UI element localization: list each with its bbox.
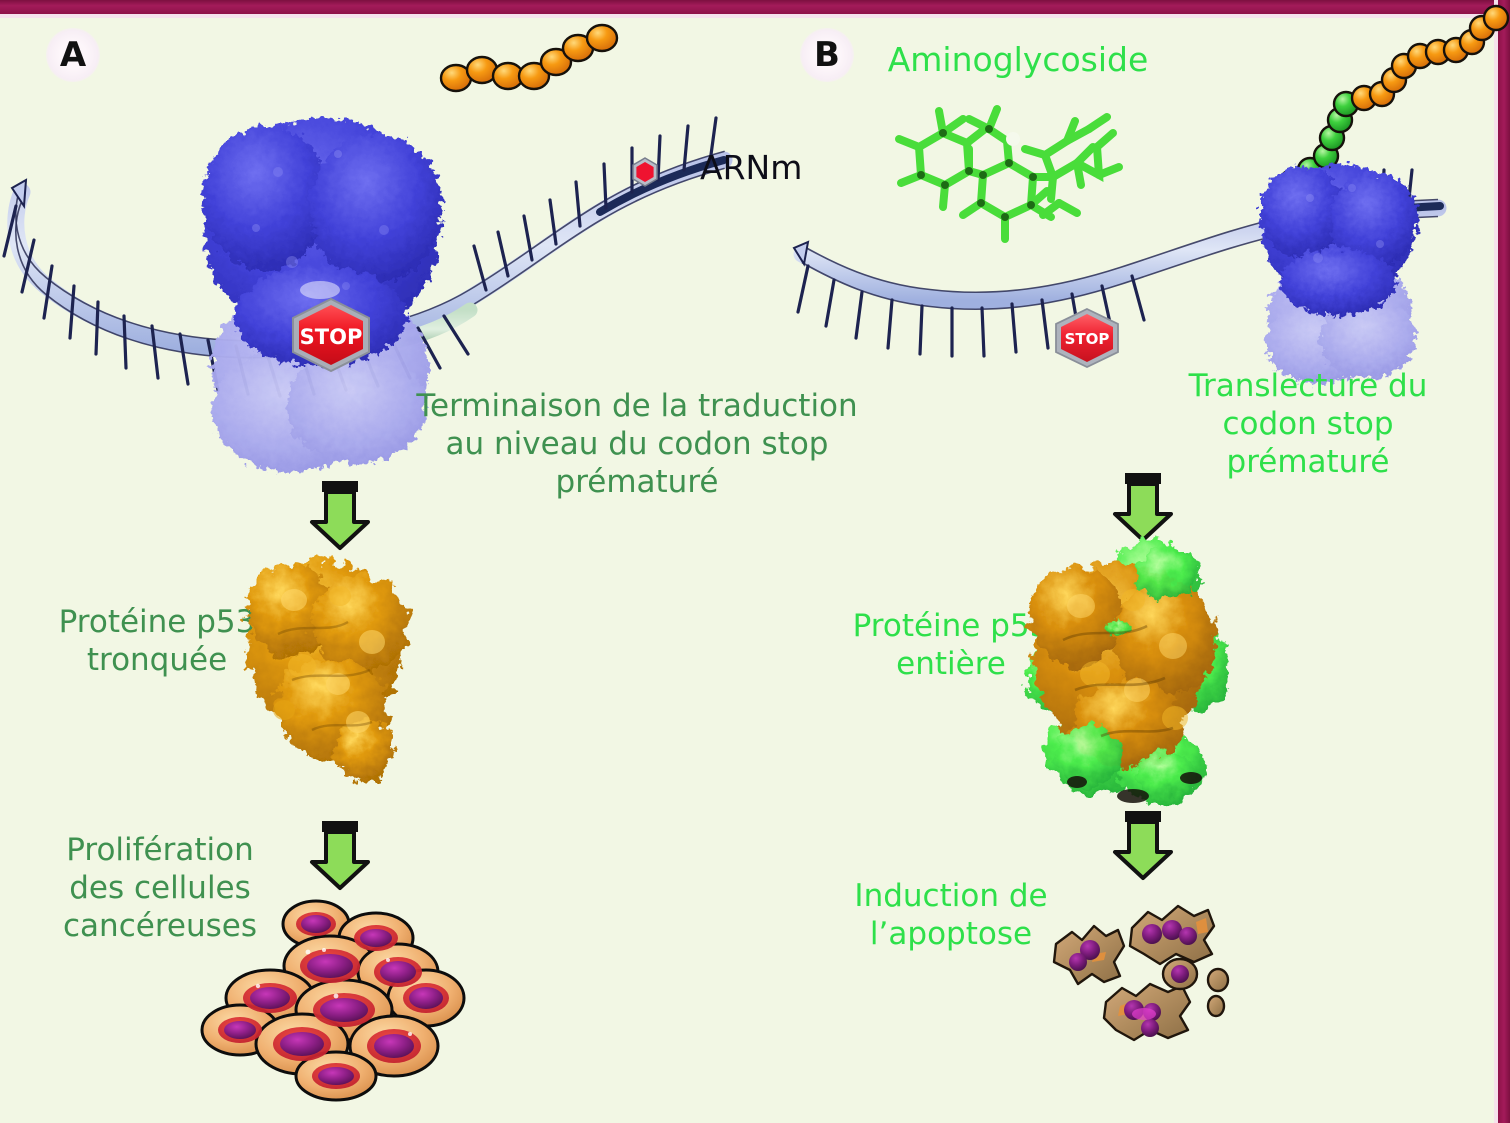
stop-sign-icon: STOP [1050, 306, 1124, 370]
p53-protein-surface-icon [232, 538, 422, 788]
stop-sign-icon: STOP [286, 296, 376, 374]
apoptotic-cell-cluster-icon [1048, 888, 1258, 1048]
p53-protein-surface-icon [1015, 528, 1230, 808]
peptide-chain-icon [440, 20, 630, 110]
cancer-cell-cluster-icon [198, 890, 468, 1100]
ribosome-icon [1240, 140, 1450, 400]
panel-badge-b: B [800, 28, 854, 82]
down-block-arrow-icon [1108, 808, 1178, 882]
figure-canvas: A [0, 0, 1510, 1123]
panel-badge-a: A [46, 28, 100, 82]
panel-b-result-label: Induction de l’apoptose [836, 878, 1066, 954]
panel-b-outcome-label: Translecture du codon stop prématuré [1163, 368, 1453, 481]
aminoglycoside-label: Aminoglycoside [868, 40, 1168, 80]
down-block-arrow-icon [305, 818, 375, 892]
stop-sign-text: STOP [300, 325, 363, 349]
stop-sign-text: STOP [1065, 330, 1110, 348]
